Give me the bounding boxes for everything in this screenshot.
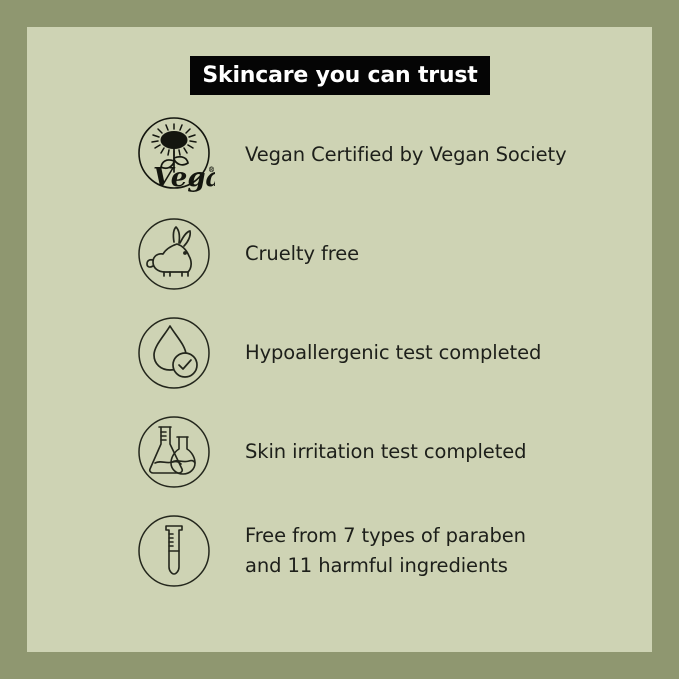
- list-item-label: Skin irritation test completed: [245, 438, 526, 466]
- rabbit-icon: [133, 213, 215, 295]
- lab-flasks-icon: [133, 411, 215, 493]
- list-item: Skin irritation test completed: [27, 402, 652, 501]
- list-item-label: Cruelty free: [245, 240, 359, 268]
- list-item-label: Hypoallergenic test completed: [245, 339, 541, 367]
- vegan-wordmark: Vegan: [153, 163, 215, 193]
- infographic-frame: Skincare you can trust: [0, 0, 679, 679]
- list-item-label: Free from 7 types of paraben and 11 harm…: [245, 521, 526, 581]
- water-droplet-check-icon: [133, 312, 215, 394]
- test-tube-icon: [133, 510, 215, 592]
- list-item: Cruelty free: [27, 204, 652, 303]
- list-item: Vegan ® Vegan Certified by Vegan Society: [27, 105, 652, 204]
- claims-list: Vegan ® Vegan Certified by Vegan Society: [27, 105, 652, 600]
- page-title: Skincare you can trust: [202, 65, 477, 87]
- list-item: Free from 7 types of paraben and 11 harm…: [27, 501, 652, 600]
- list-item: Hypoallergenic test completed: [27, 303, 652, 402]
- title-banner: Skincare you can trust: [190, 56, 490, 95]
- list-item-label: Vegan Certified by Vegan Society: [245, 141, 567, 169]
- vegan-society-logo-icon: Vegan ®: [133, 114, 215, 196]
- content-panel: Skincare you can trust: [27, 27, 652, 652]
- registered-trademark-mark: ®: [208, 165, 215, 174]
